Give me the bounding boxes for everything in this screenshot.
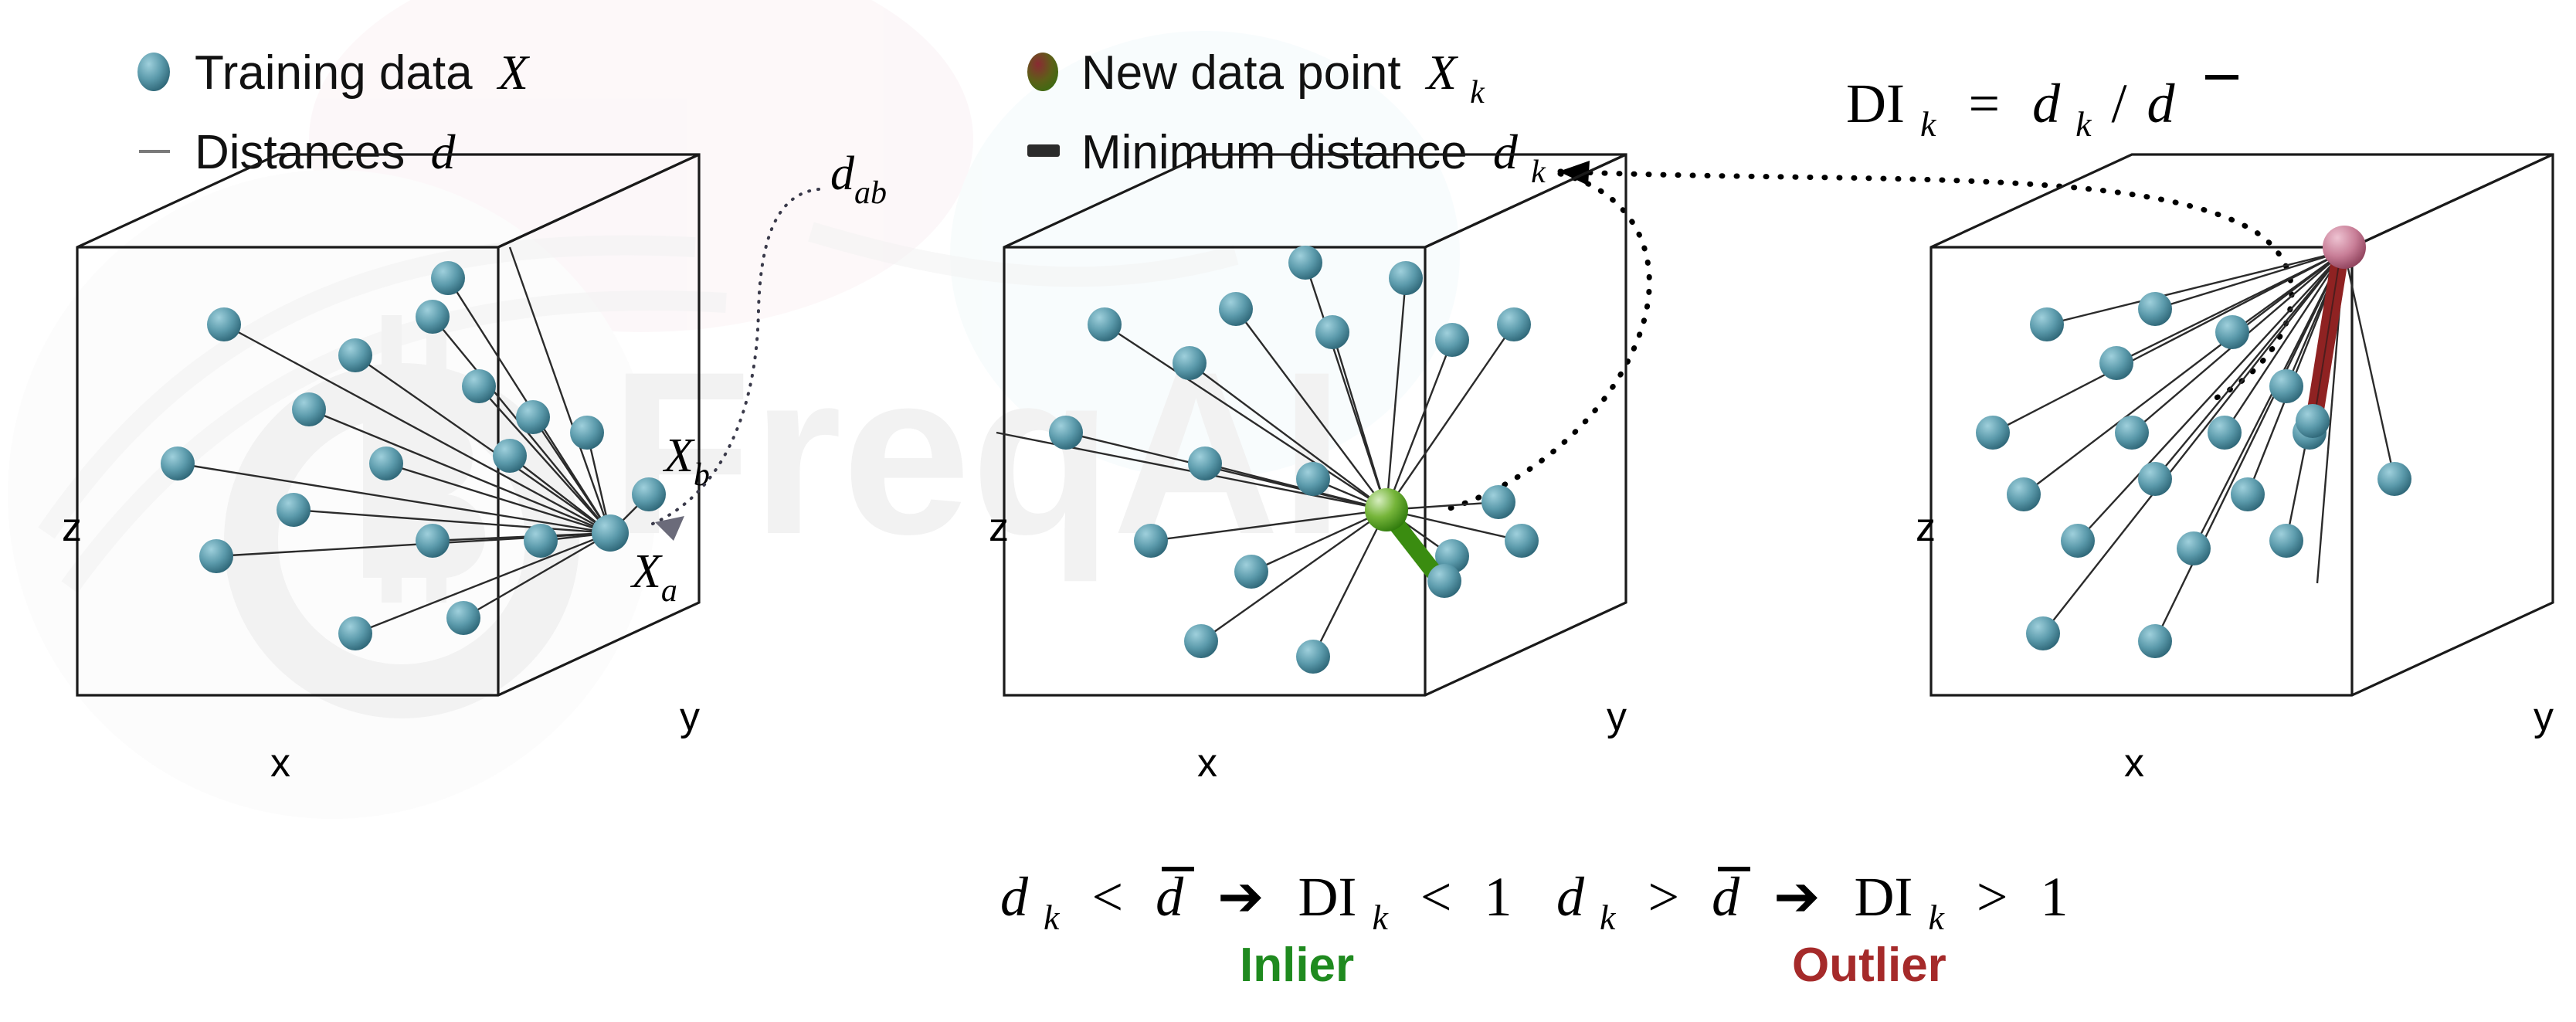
axis-label-y-3: y: [2534, 694, 2554, 739]
caption-outlier: d k > d ➔ DI k > 1: [1556, 866, 2069, 942]
verdict-outlier: Outlier: [1792, 939, 1946, 992]
panel-outlier: z x y d k > d ➔ DI k > 1 Outlier: [0, 0, 2576, 1022]
svg-text:d k >: d k > d ➔ DI k > 1: [1556, 866, 2069, 942]
axis-label-x-3: x: [2124, 741, 2144, 786]
figure-canvas: FreqAI: [0, 0, 2576, 1022]
cube-wireframe-3: [1931, 154, 2553, 695]
training-points-3: [1976, 292, 2411, 658]
axis-label-z-3: z: [1916, 505, 1936, 550]
new-data-point-outlier: [2323, 226, 2366, 269]
